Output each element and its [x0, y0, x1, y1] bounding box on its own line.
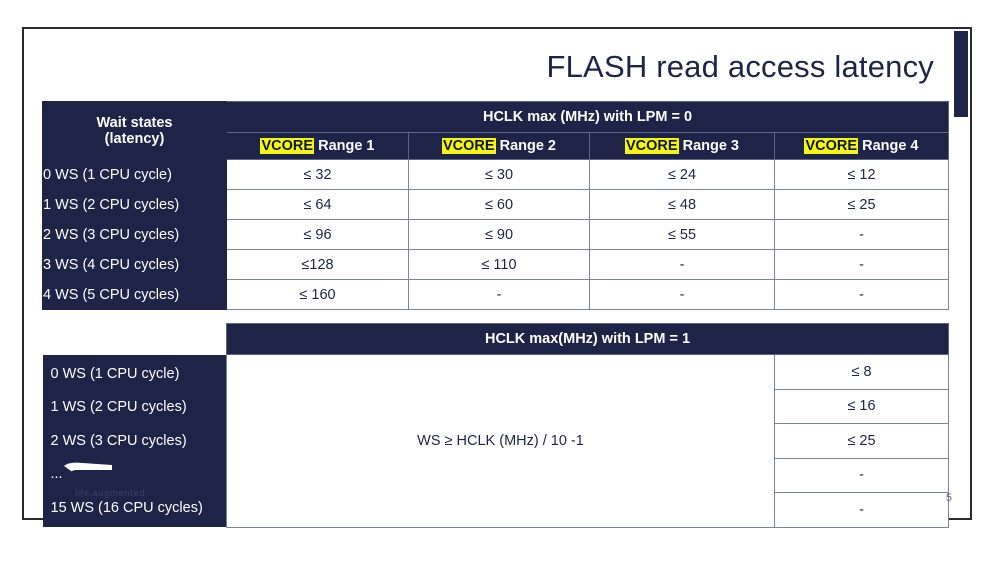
row-label: 0 WS (1 CPU cycle)	[43, 160, 227, 190]
corner-header: Wait states (latency)	[43, 102, 227, 160]
cell-value: -	[775, 250, 949, 280]
vcore-badge: VCORE	[442, 138, 496, 154]
cell-value: ≤ 30	[409, 160, 590, 190]
table-row: 2 WS (3 CPU cycles) ≤ 96 ≤ 90 ≤ 55 -	[43, 220, 949, 250]
section-gap	[43, 310, 949, 324]
cell-value: -	[775, 493, 949, 528]
cell-value: -	[409, 280, 590, 310]
corner-header-line1: Wait states	[43, 115, 226, 131]
cell-value: ≤ 25	[775, 190, 949, 220]
table-row: 0 WS (1 CPU cycle) ≤ 32 ≤ 30 ≤ 24 ≤ 12	[43, 160, 949, 190]
row-label: 1 WS (2 CPU cycles)	[43, 190, 227, 220]
section-gap-cell	[43, 310, 949, 324]
cell-value: ≤ 90	[409, 220, 590, 250]
cell-value: ≤ 48	[590, 190, 775, 220]
cell-value: ≤128	[227, 250, 409, 280]
row-label: 2 WS (3 CPU cycles)	[43, 424, 227, 458]
st-logo: life.augmented	[60, 458, 190, 506]
cell-value: ≤ 16	[775, 389, 949, 424]
cell-value: ≤ 60	[409, 190, 590, 220]
lpm1-header-row: HCLK max(MHz) with LPM = 1	[43, 324, 949, 355]
vcore-badge: VCORE	[625, 138, 679, 154]
lpm1-body-row: 0 WS (1 CPU cycle) 1 WS (2 CPU cycles) 2…	[43, 355, 949, 390]
cell-value: ≤ 32	[227, 160, 409, 190]
vcore-badge: VCORE	[260, 138, 314, 154]
column-header-vcore-range-3: VCORE Range 3	[590, 133, 775, 160]
lpm1-corner-blank	[43, 324, 227, 355]
cell-value: ≤ 25	[775, 424, 949, 459]
cell-value: ≤ 160	[227, 280, 409, 310]
cell-value: ≤ 12	[775, 160, 949, 190]
table-header-row-1: Wait states (latency) HCLK max (MHz) wit…	[43, 102, 949, 133]
cell-value: ≤ 110	[409, 250, 590, 280]
logo-tagline: life.augmented	[75, 489, 190, 499]
page-title: FLASH read access latency	[546, 49, 934, 85]
row-label: 1 WS (2 CPU cycles)	[43, 391, 227, 425]
vcore-badge: VCORE	[804, 138, 858, 154]
table-row: 4 WS (5 CPU cycles) ≤ 160 - - -	[43, 280, 949, 310]
column-header-suffix: Range 4	[858, 138, 918, 154]
cell-value: ≤ 96	[227, 220, 409, 250]
slide-canvas: FLASH read access latency Wait states (l…	[22, 27, 972, 520]
row-label: 3 WS (4 CPU cycles)	[43, 250, 227, 280]
cell-value: -	[775, 280, 949, 310]
column-header-suffix: Range 1	[314, 138, 374, 154]
column-header-vcore-range-1: VCORE Range 1	[227, 133, 409, 160]
cell-value: -	[590, 280, 775, 310]
lpm1-span-header: HCLK max(MHz) with LPM = 1	[227, 324, 949, 355]
accent-band	[954, 31, 968, 117]
row-label: 0 WS (1 CPU cycle)	[43, 357, 227, 391]
cell-value: -	[590, 250, 775, 280]
lpm1-formula-cell: WS ≥ HCLK (MHz) / 10 -1	[227, 355, 775, 528]
st-logo-icon	[60, 458, 164, 488]
cell-value: -	[775, 458, 949, 493]
column-header-vcore-range-2: VCORE Range 2	[409, 133, 590, 160]
row-label: 4 WS (5 CPU cycles)	[43, 280, 227, 310]
column-header-vcore-range-4: VCORE Range 4	[775, 133, 949, 160]
column-header-suffix: Range 3	[679, 138, 739, 154]
table-row: 3 WS (4 CPU cycles) ≤128 ≤ 110 - -	[43, 250, 949, 280]
row-label: 2 WS (3 CPU cycles)	[43, 220, 227, 250]
corner-header-line2: (latency)	[43, 131, 226, 147]
column-header-suffix: Range 2	[496, 138, 556, 154]
page-number: 5	[946, 492, 952, 504]
cell-value: ≤ 64	[227, 190, 409, 220]
cell-value: ≤ 24	[590, 160, 775, 190]
cell-value: -	[775, 220, 949, 250]
cell-value: ≤ 8	[775, 355, 949, 390]
lpm0-span-header: HCLK max (MHz) with LPM = 0	[227, 102, 949, 133]
table-row: 1 WS (2 CPU cycles) ≤ 64 ≤ 60 ≤ 48 ≤ 25	[43, 190, 949, 220]
cell-value: ≤ 55	[590, 220, 775, 250]
